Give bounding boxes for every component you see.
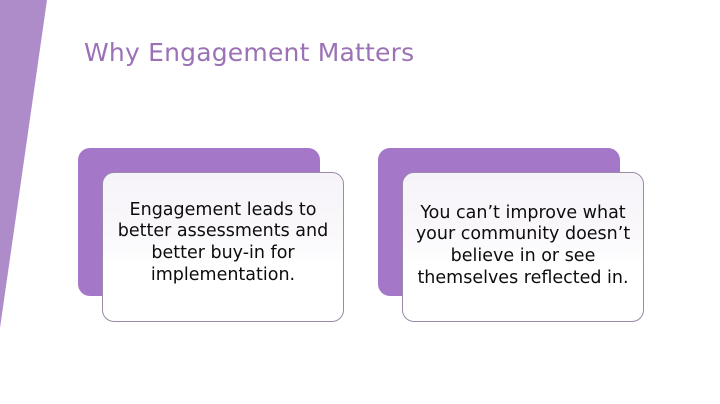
- card-group-2: You can’t improve what your community do…: [378, 148, 648, 328]
- card-text-1: Engagement leads to better assessments a…: [103, 200, 343, 287]
- purple-wedge-decoration: [0, 0, 60, 404]
- card-group-1: Engagement leads to better assessments a…: [78, 148, 348, 328]
- card-panel-2[interactable]: You can’t improve what your community do…: [402, 172, 644, 322]
- page-title: Why Engagement Matters: [84, 38, 414, 67]
- slide-canvas: Why Engagement Matters Engagement leads …: [0, 0, 720, 404]
- card-text-2: You can’t improve what your community do…: [403, 203, 643, 290]
- card-panel-1[interactable]: Engagement leads to better assessments a…: [102, 172, 344, 322]
